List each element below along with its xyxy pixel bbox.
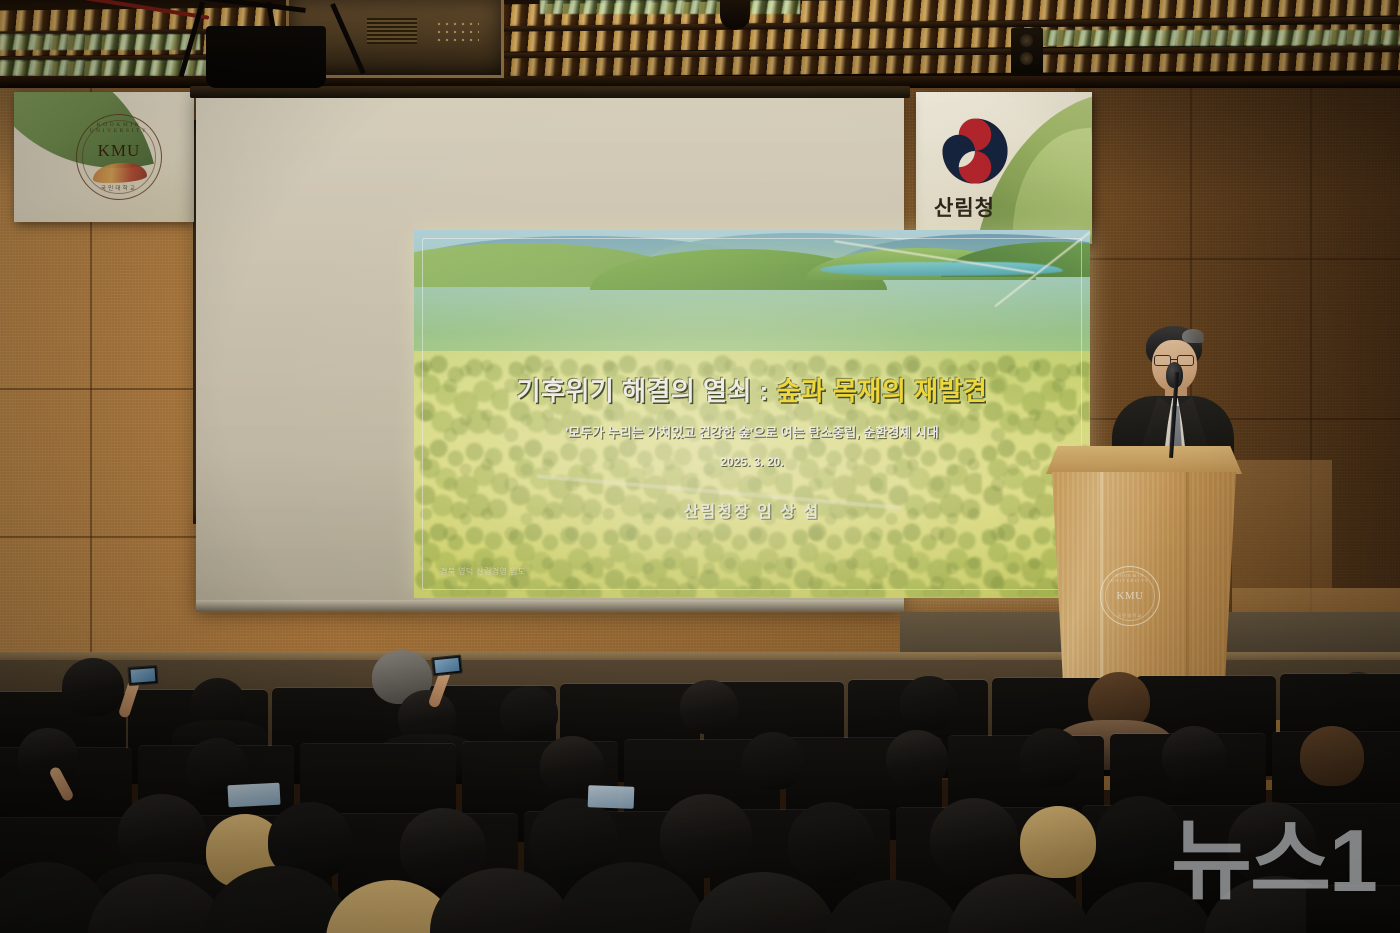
ceiling-projector (206, 26, 326, 88)
smartphone-recording[interactable] (127, 665, 158, 686)
slide-photo-credit: 경북 영덕 산림경영 임도 (440, 566, 525, 577)
ceiling-reflection (1020, 30, 1400, 46)
attendee-head (660, 794, 752, 878)
presentation-slide: 기후위기 해결의 열쇠 : 숲과 목재의 재발견 '모두가 누리는 가치있고 건… (414, 230, 1090, 598)
attendee-head (1300, 726, 1364, 786)
kmu-seal-icon: KOOKMIN UNIVERSITY KMU 국민대학교 (76, 114, 162, 200)
perforated-panel (435, 20, 479, 44)
seal-initials: KMU (1116, 590, 1143, 602)
taegeuk-government-symbol-icon (938, 114, 1012, 188)
phone-screen (434, 658, 459, 673)
attendee-head (680, 680, 738, 734)
attendee-head (742, 732, 804, 790)
wall-panel (1232, 460, 1332, 588)
attendee-head (18, 728, 78, 784)
laptop-screen[interactable] (588, 785, 635, 809)
wall-seam (0, 388, 200, 390)
wall-speaker (1011, 28, 1043, 74)
projection-screen: 기후위기 해결의 열쇠 : 숲과 목재의 재발견 '모두가 누리는 가치있고 건… (196, 90, 904, 610)
smartphone-recording[interactable] (431, 654, 463, 676)
lake (820, 262, 1063, 275)
lectern-desktop (1046, 446, 1242, 474)
slide-title-white: 기후위기 해결의 열쇠 : (517, 376, 777, 406)
laptop-screen[interactable] (227, 783, 280, 808)
attendee-head (1020, 806, 1096, 878)
slide-title: 기후위기 해결의 열쇠 : 숲과 목재의 재발견 (414, 378, 1090, 404)
attendee-head (788, 802, 874, 882)
seal-arc-bottom-text: 국민대학교 (77, 184, 161, 192)
attendee-head (1162, 726, 1226, 786)
seal-arc-top-text: KOOKMIN UNIVERSITY (1101, 573, 1159, 583)
slide-subtitle: '모두가 누리는 가치있고 건강한 숲'으로 여는 탄소중립, 순환경제 시대 (414, 422, 1090, 441)
kookmin-university-banner: KOOKMIN UNIVERSITY KMU 국민대학교 (14, 92, 194, 222)
wall-seam (0, 536, 200, 538)
attendee-head (62, 658, 124, 716)
slide-presenter-name: 산림청장 임 상 섭 (414, 498, 1090, 522)
attendee-head (500, 686, 558, 740)
attendee-head (930, 798, 1018, 880)
ceiling-pipe (720, 0, 750, 30)
slide-title-highlight: 숲과 목재의 재발견 (777, 376, 988, 406)
korea-forest-service-banner: 산림청 (916, 92, 1092, 244)
banner-label: 산림청 (934, 192, 995, 222)
attendee-head (886, 730, 948, 788)
screen-bottom-bar (196, 600, 904, 612)
seal-arc-top-text: KOOKMIN UNIVERSITY (77, 122, 161, 134)
ceiling (0, 0, 1400, 92)
attendee-head (900, 676, 958, 730)
lecture-hall-photo: KOOKMIN UNIVERSITY KMU 국민대학교 산림청 (0, 0, 1400, 933)
attendee-head (1020, 728, 1082, 786)
ceiling-reflection (0, 34, 200, 50)
phone-screen (131, 668, 156, 683)
news1-watermark: 뉴스1 (1171, 817, 1376, 905)
vent-grille-icon (367, 18, 417, 44)
lectern-kmu-seal-icon: KOOKMIN UNIVERSITY KMU 국민대학교 (1100, 566, 1160, 626)
ceiling-reflection (540, 0, 800, 14)
seal-initials: KMU (98, 141, 141, 161)
slide-date: 2025. 3. 20. (414, 455, 1090, 469)
seal-arc-bottom-text: 국민대학교 (1101, 613, 1159, 619)
phoenix-icon (93, 163, 147, 183)
